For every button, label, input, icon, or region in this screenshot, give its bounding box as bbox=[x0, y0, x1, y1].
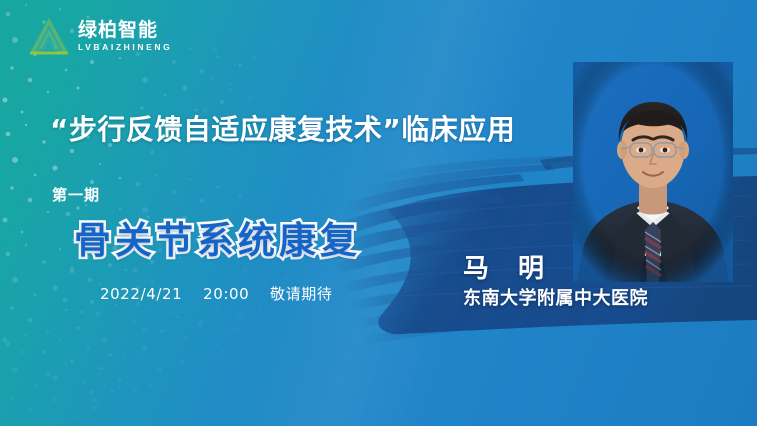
speaker-name: 马 明 bbox=[463, 248, 554, 285]
brand-name-cn: 绿柏智能 bbox=[78, 21, 172, 40]
poster-subtitle: 骨关节系统康复 bbox=[74, 210, 361, 264]
schedule-date: 2022/4/21 bbox=[100, 285, 182, 303]
speaker-organization: 东南大学附属中大医院 bbox=[463, 284, 648, 310]
speaker-portrait bbox=[573, 62, 733, 282]
brand-logo-text: 绿柏智能 LVBAIZHINENG bbox=[78, 21, 172, 52]
schedule-note: 敬请期待 bbox=[270, 285, 332, 303]
triangle-logo-icon bbox=[28, 16, 70, 56]
brand-logo: 绿柏智能 LVBAIZHINENG bbox=[28, 16, 172, 56]
webinar-poster: 绿柏智能 LVBAIZHINENG “步行反馈自适应康复技术”临床应用 第一期 … bbox=[0, 0, 757, 426]
poster-headline: “步行反馈自适应康复技术”临床应用 bbox=[50, 108, 515, 148]
brand-name-en: LVBAIZHINENG bbox=[78, 43, 172, 52]
episode-label: 第一期 bbox=[52, 184, 100, 205]
schedule-time: 20:00 bbox=[203, 285, 249, 303]
schedule-line: 2022/4/21 20:00 敬请期待 bbox=[100, 283, 332, 304]
